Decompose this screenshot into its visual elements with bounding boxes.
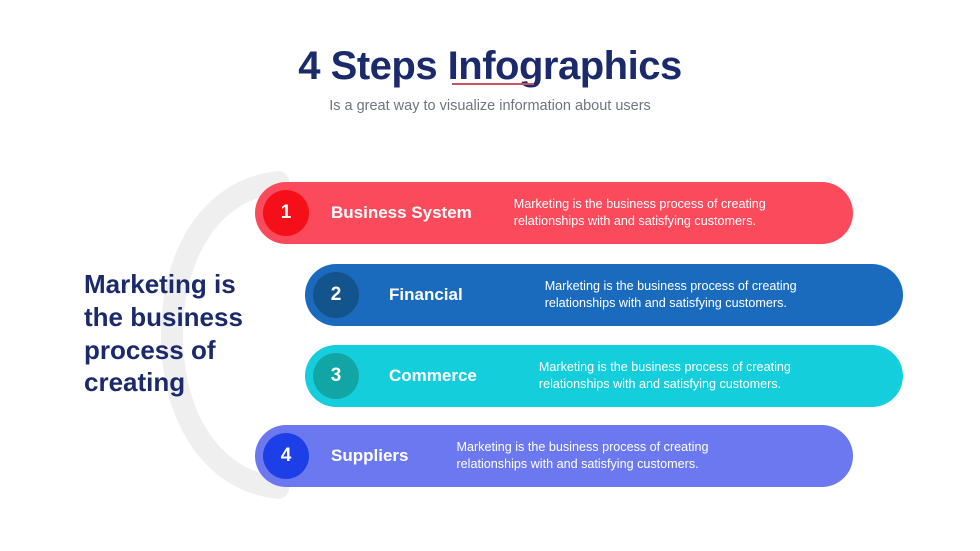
step-number-badge-3: 3 xyxy=(313,353,359,399)
step-number-badge-4: 4 xyxy=(263,433,309,479)
step-row-1[interactable]: 1 Business System Marketing is the busin… xyxy=(255,182,853,244)
step-row-2[interactable]: 2 Financial Marketing is the business pr… xyxy=(305,264,903,326)
step-description-3: Marketing is the business process of cre… xyxy=(539,359,791,394)
accent-divider xyxy=(452,83,534,85)
step-row-4[interactable]: 4 Suppliers Marketing is the business pr… xyxy=(255,425,853,487)
step-description-4: Marketing is the business process of cre… xyxy=(456,439,708,474)
step-description-1: Marketing is the business process of cre… xyxy=(514,196,766,231)
step-number-badge-2: 2 xyxy=(313,272,359,318)
step-title-1: Business System xyxy=(331,203,472,223)
page-title: 4 Steps Infographics xyxy=(0,44,980,88)
left-heading: Marketing is the business process of cre… xyxy=(84,268,264,399)
step-number-badge-1: 1 xyxy=(263,190,309,236)
infographic-canvas: 4 Steps Infographics Is a great way to v… xyxy=(0,0,980,551)
step-title-4: Suppliers xyxy=(331,446,408,466)
step-row-3[interactable]: 3 Commerce Marketing is the business pro… xyxy=(305,345,903,407)
step-title-3: Commerce xyxy=(389,366,477,386)
step-description-2: Marketing is the business process of cre… xyxy=(545,278,797,313)
step-title-2: Financial xyxy=(389,285,463,305)
header: 4 Steps Infographics Is a great way to v… xyxy=(0,44,980,115)
page-subtitle: Is a great way to visualize information … xyxy=(0,98,980,115)
